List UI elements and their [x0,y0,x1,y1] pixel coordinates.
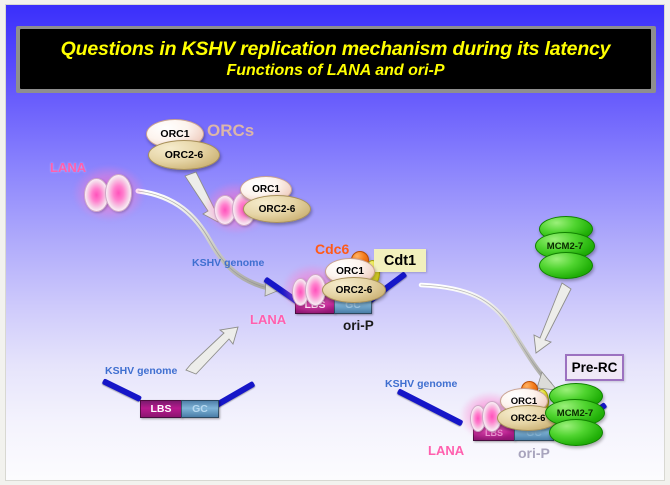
slide-canvas: Questions in KSHV replication mechanism … [0,0,670,485]
gc-box-bottom-left: GC [181,400,219,418]
prerc-label-box: Pre-RC [565,354,624,381]
orc26-blob-bound: ORC2-6 [243,195,311,223]
orc26-blob-center: ORC2-6 [322,277,386,303]
lana-oval-right [105,174,132,212]
mcm-ring-bottom-prerc [549,419,603,446]
title-line-secondary: Functions of LANA and ori-P [226,61,444,80]
title-box: Questions in KSHV replication mechanism … [20,29,651,89]
lbs-box-bottom-left: LBS [140,400,182,418]
orc26-blob-free: ORC2-6 [148,140,220,170]
cdt1-label-box: Cdt1 [374,249,426,272]
mcm-ring-bottom [539,252,593,279]
title-line-primary: Questions in KSHV replication mechanism … [61,38,611,60]
